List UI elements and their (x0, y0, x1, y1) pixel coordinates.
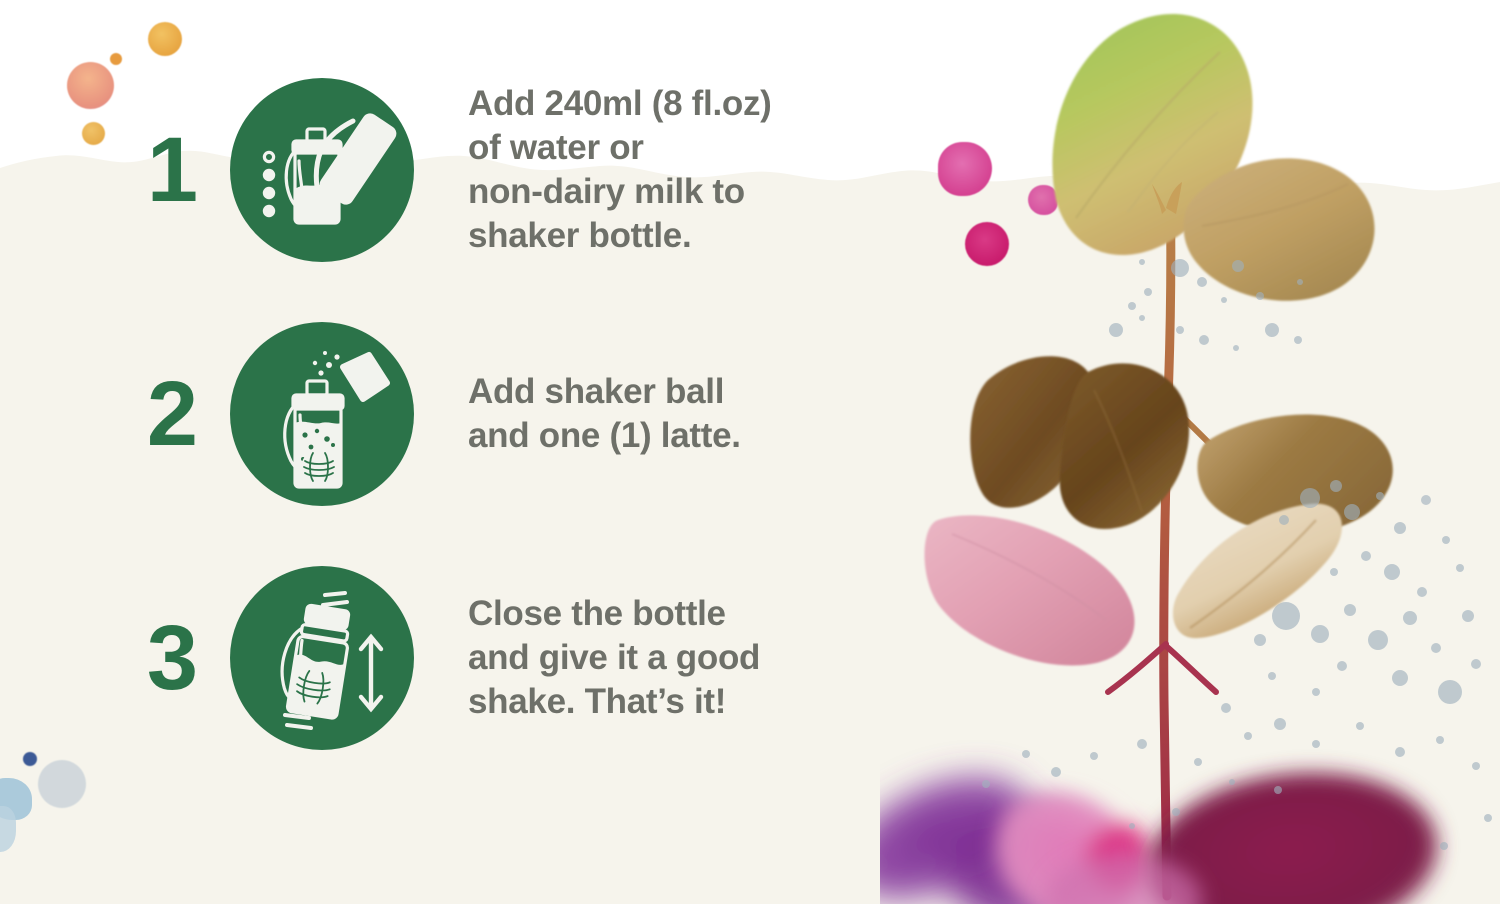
step-1-text: Add 240ml (8 fl.oz) of water or non-dair… (468, 82, 772, 258)
step-2: 2 (126, 322, 741, 506)
step-1-number: 1 (126, 124, 218, 216)
instruction-graphic: 1 (0, 0, 1500, 904)
step-3-text: Close the bottle and give it a good shak… (468, 592, 760, 724)
bottle-shake-arrow-icon (230, 566, 414, 750)
step-3: 3 (126, 566, 760, 750)
step-2-number: 2 (126, 368, 218, 460)
step-2-text: Add shaker ball and one (1) latte. (468, 370, 741, 458)
steps-list: 1 (0, 0, 900, 904)
step-1: 1 (126, 78, 772, 262)
bottle-sachet-ball-icon (230, 322, 414, 506)
pressed-plant-photo (880, 0, 1500, 904)
bottle-pour-icon (230, 78, 414, 262)
step-3-number: 3 (126, 612, 218, 704)
